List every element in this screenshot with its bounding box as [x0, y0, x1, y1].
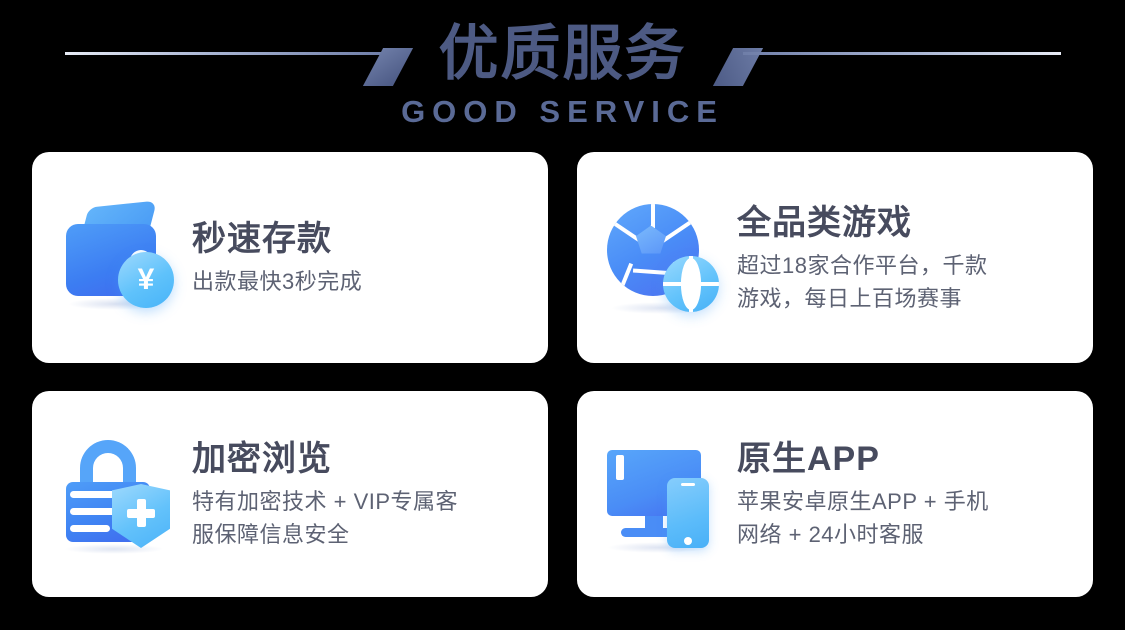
card-subtitle: 出款最快3秒完成	[192, 265, 530, 298]
card-text-area: 加密浏览 特有加密技术 + VIP专属客 服保障信息安全	[192, 437, 548, 551]
header-title-row: 优质服务	[0, 18, 1125, 90]
card-icon-area	[577, 152, 737, 363]
card-subtitle-line: 游戏，每日上百场赛事	[737, 282, 1075, 315]
card-icon-area: ¥	[32, 152, 192, 363]
phone-home-button	[684, 537, 692, 545]
card-subtitle-line: 特有加密技术 + VIP专属客	[192, 485, 530, 518]
card-subtitle: 超过18家合作平台，千款 游戏，每日上百场赛事	[737, 249, 1075, 315]
decoration-line-left	[65, 52, 383, 55]
card-text-area: 原生APP 苹果安卓原生APP + 手机 网络 + 24小时客服	[737, 437, 1093, 551]
monitor-screen	[616, 455, 624, 480]
feature-card-grid: ¥ 秒速存款 出款最快3秒完成	[32, 152, 1093, 597]
card-subtitle-line: 超过18家合作平台，千款	[737, 249, 1075, 282]
card-text-area: 秒速存款 出款最快3秒完成	[192, 217, 548, 298]
page-title: 优质服务	[425, 18, 701, 90]
card-title: 原生APP	[737, 437, 1075, 481]
header-left-decoration	[35, 18, 425, 90]
feature-card-deposit[interactable]: ¥ 秒速存款 出款最快3秒完成	[32, 152, 548, 363]
feature-card-native-app[interactable]: 原生APP 苹果安卓原生APP + 手机 网络 + 24小时客服	[577, 391, 1093, 597]
header-right-decoration	[701, 18, 1091, 90]
card-subtitle: 特有加密技术 + VIP专属客 服保障信息安全	[192, 485, 530, 551]
card-title: 秒速存款	[192, 217, 530, 261]
card-subtitle-line: 服保障信息安全	[192, 518, 530, 551]
card-title: 全品类游戏	[737, 201, 1075, 245]
promo-banner: 优质服务 GOOD SERVICE ¥	[0, 0, 1125, 630]
card-title: 加密浏览	[192, 437, 530, 481]
plus-icon	[127, 499, 155, 527]
card-subtitle: 苹果安卓原生APP + 手机 网络 + 24小时客服	[737, 485, 1075, 551]
card-icon-area	[577, 391, 737, 597]
lock-shield-icon	[60, 434, 180, 554]
feature-card-games[interactable]: 全品类游戏 超过18家合作平台，千款 游戏，每日上百场赛事	[577, 152, 1093, 363]
yen-coin-icon: ¥	[118, 252, 174, 308]
basketball-icon	[663, 256, 719, 312]
smartphone-icon	[667, 478, 709, 548]
card-subtitle-line: 网络 + 24小时客服	[737, 518, 1075, 551]
banner-header: 优质服务 GOOD SERVICE	[0, 0, 1125, 150]
phone-speaker	[681, 483, 695, 486]
card-subtitle-line: 出款最快3秒完成	[192, 265, 530, 298]
wallet-coin-icon: ¥	[60, 198, 180, 318]
card-icon-area	[32, 391, 192, 597]
monitor-phone-icon	[605, 434, 725, 554]
card-subtitle-line: 苹果安卓原生APP + 手机	[737, 485, 1075, 518]
icon-shadow	[64, 544, 164, 554]
card-text-area: 全品类游戏 超过18家合作平台，千款 游戏，每日上百场赛事	[737, 201, 1093, 315]
page-subtitle: GOOD SERVICE	[0, 94, 1125, 130]
feature-card-encryption[interactable]: 加密浏览 特有加密技术 + VIP专属客 服保障信息安全	[32, 391, 548, 597]
decoration-line-right	[743, 52, 1061, 55]
soccer-basketball-icon	[605, 198, 725, 318]
